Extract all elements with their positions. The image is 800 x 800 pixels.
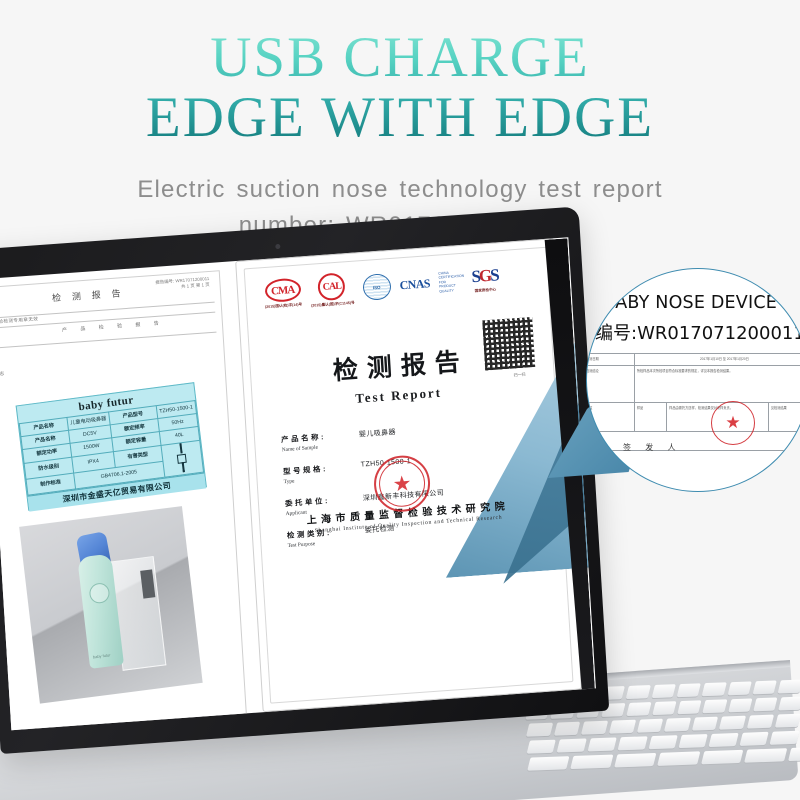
- cma-mark: CMA: [264, 277, 301, 303]
- qr-code-icon: [482, 317, 535, 370]
- product-photo: baby futur: [19, 506, 203, 704]
- field-key: 型号规格: Type: [283, 461, 362, 486]
- cal-logo: CAL (2015)量认(国)字(C1145)号: [309, 272, 355, 309]
- laptop-screen: 检 测 报 告 报告编号: WR17071200011 共 1 页 第 1 页 …: [0, 237, 596, 730]
- product-spec-label: baby futur 产品名称 儿童电动吸鼻器 产品型号 TZH50-1500-…: [16, 382, 207, 511]
- iso-logo: ISO: [362, 273, 392, 301]
- left-page-note-mark: 检验标志: [0, 371, 5, 378]
- page-title: USB CHARGEEDGE WITH EDGE: [0, 28, 800, 148]
- callout-cell-label: 检测日期: [586, 354, 634, 366]
- callout-cell-value: 所检样品本次所检项目符合标准要求的规定，详见本报告检测结果。: [634, 366, 800, 403]
- callout-table: 检测日期 2017年1月10日 至 2017年1月20日 检测结论 所检样品本次…: [586, 353, 800, 451]
- callout-stamp-icon: ★: [711, 401, 755, 445]
- table-row: [586, 432, 800, 451]
- left-page-title: 检 测 报 告: [52, 286, 125, 304]
- product-banner: USB CHARGEEDGE WITH EDGE Electric suctio…: [0, 0, 800, 800]
- sgs-logo: SGS 国家质检中心: [471, 265, 499, 294]
- sgs-mark: SGS: [471, 265, 498, 287]
- callout-serial-number: 编号:WR017071200011: [595, 319, 800, 345]
- callout-bubble: BABY NOSE DEVICE 编号:WR017071200011 检测日期 …: [586, 268, 800, 492]
- callout-title: BABY NOSE DEVICE: [603, 293, 777, 313]
- webcam-icon: [275, 244, 280, 249]
- cma-caption: (2015)国认(检)字(14)号: [265, 302, 302, 310]
- report-field-row: 产品名称: Name of Sample 婴儿吸鼻器: [281, 416, 536, 453]
- callout-cell-label: 备注: [586, 403, 634, 432]
- iso-mark: ISO: [362, 273, 392, 301]
- callout-signature: 签 发 人: [623, 442, 681, 453]
- callout-cell-label: 检测结论: [586, 366, 634, 403]
- left-page-meta: 报告编号: WR17071200011 共 1 页 第 1 页: [155, 276, 209, 292]
- cal-caption: (2015)量认(国)字(C1145)号: [311, 301, 355, 309]
- callout-document-zoom: 检测日期 2017年1月10日 至 2017年1月20日 检测结论 所检样品本次…: [586, 353, 800, 451]
- cnas-logo: CNAS: [399, 276, 430, 293]
- laptop-lid: 检 测 报 告 报告编号: WR17071200011 共 1 页 第 1 页 …: [0, 206, 609, 754]
- quality-text-logo: CHINA CERTIFICATION FOR PRODUCT QUALITY: [438, 270, 463, 294]
- qr-caption: 扫一扫: [513, 372, 525, 379]
- document-page-left: 检 测 报 告 报告编号: WR17071200011 共 1 页 第 1 页 …: [0, 270, 247, 730]
- certification-logos: CMA (2015)国认(检)字(14)号 CAL (2015)量认(国)字(C…: [263, 259, 526, 312]
- cma-logo: CMA (2015)国认(检)字(14)号: [263, 277, 302, 310]
- table-row: 检测结论 所检样品本次所检项目符合标准要求的规定，详见本报告检测结果。: [586, 366, 800, 403]
- cal-mark: CAL: [318, 272, 347, 301]
- field-value: 婴儿吸鼻器: [359, 426, 397, 440]
- test-report-document: CMA (2015)国认(检)字(14)号 CAL (2015)量认(国)字(C…: [257, 259, 542, 563]
- document-page-right: CMA (2015)国认(检)字(14)号 CAL (2015)量认(国)字(C…: [235, 238, 582, 712]
- field-key: 产品名称: Name of Sample: [281, 429, 360, 454]
- sgs-caption: 国家质检中心: [475, 287, 497, 294]
- table-row: 检测日期 2017年1月10日 至 2017年1月20日: [586, 354, 800, 366]
- headline-line-2: EDGE WITH EDGE: [146, 86, 654, 149]
- zoom-callout: BABY NOSE DEVICE 编号:WR017071200011 检测日期 …: [556, 268, 800, 498]
- table-row: 备注 样品 样品由委托方送样，检测结果仅对来样负责。 见检测结果: [586, 403, 800, 432]
- cnas-mark: CNAS: [399, 276, 430, 293]
- subtitle-line-1: Electric suction nose technology test re…: [0, 172, 800, 208]
- callout-cell-value: 2017年1月10日 至 2017年1月20日: [634, 354, 800, 366]
- quality-text: CHINA CERTIFICATION FOR PRODUCT QUALITY: [438, 270, 463, 294]
- headline-line-1: USB CHARGE: [210, 26, 589, 89]
- spec-qr-code-icon: [161, 440, 204, 477]
